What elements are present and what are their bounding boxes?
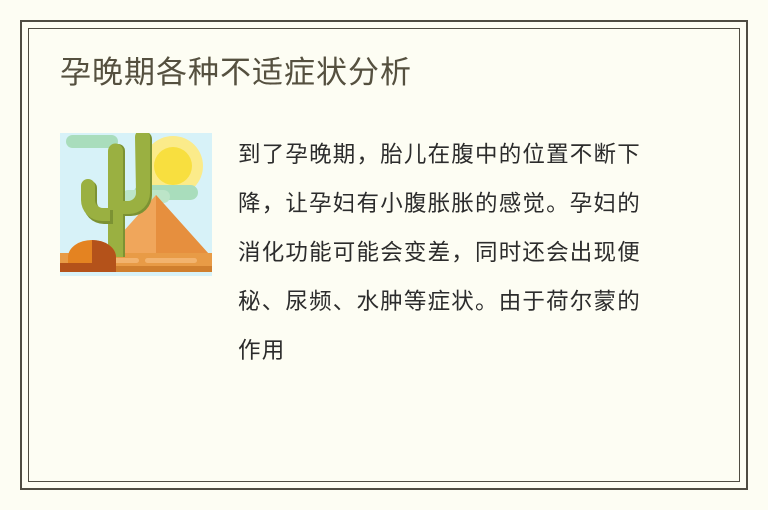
ground-dash-icon xyxy=(145,258,197,263)
sun-core-icon xyxy=(154,147,192,185)
cactus-trunk-icon xyxy=(108,143,123,257)
dirt-base-icon xyxy=(60,263,116,272)
page-title: 孕晚期各种不适症状分析 xyxy=(60,54,708,93)
article-paragraph: 到了孕晚期，胎儿在腹中的位置不断下降，让孕妇有小腹胀胀的感觉。孕妇的消化功能可能… xyxy=(238,131,656,376)
article-body: 到了孕晚期，胎儿在腹中的位置不断下降，让孕妇有小腹胀胀的感觉。孕妇的消化功能可能… xyxy=(60,131,708,376)
article-card: 孕晚期各种不适症状分析 xyxy=(28,28,740,482)
desert-cactus-illustration xyxy=(60,133,212,276)
ground-dash-icon xyxy=(113,258,139,263)
